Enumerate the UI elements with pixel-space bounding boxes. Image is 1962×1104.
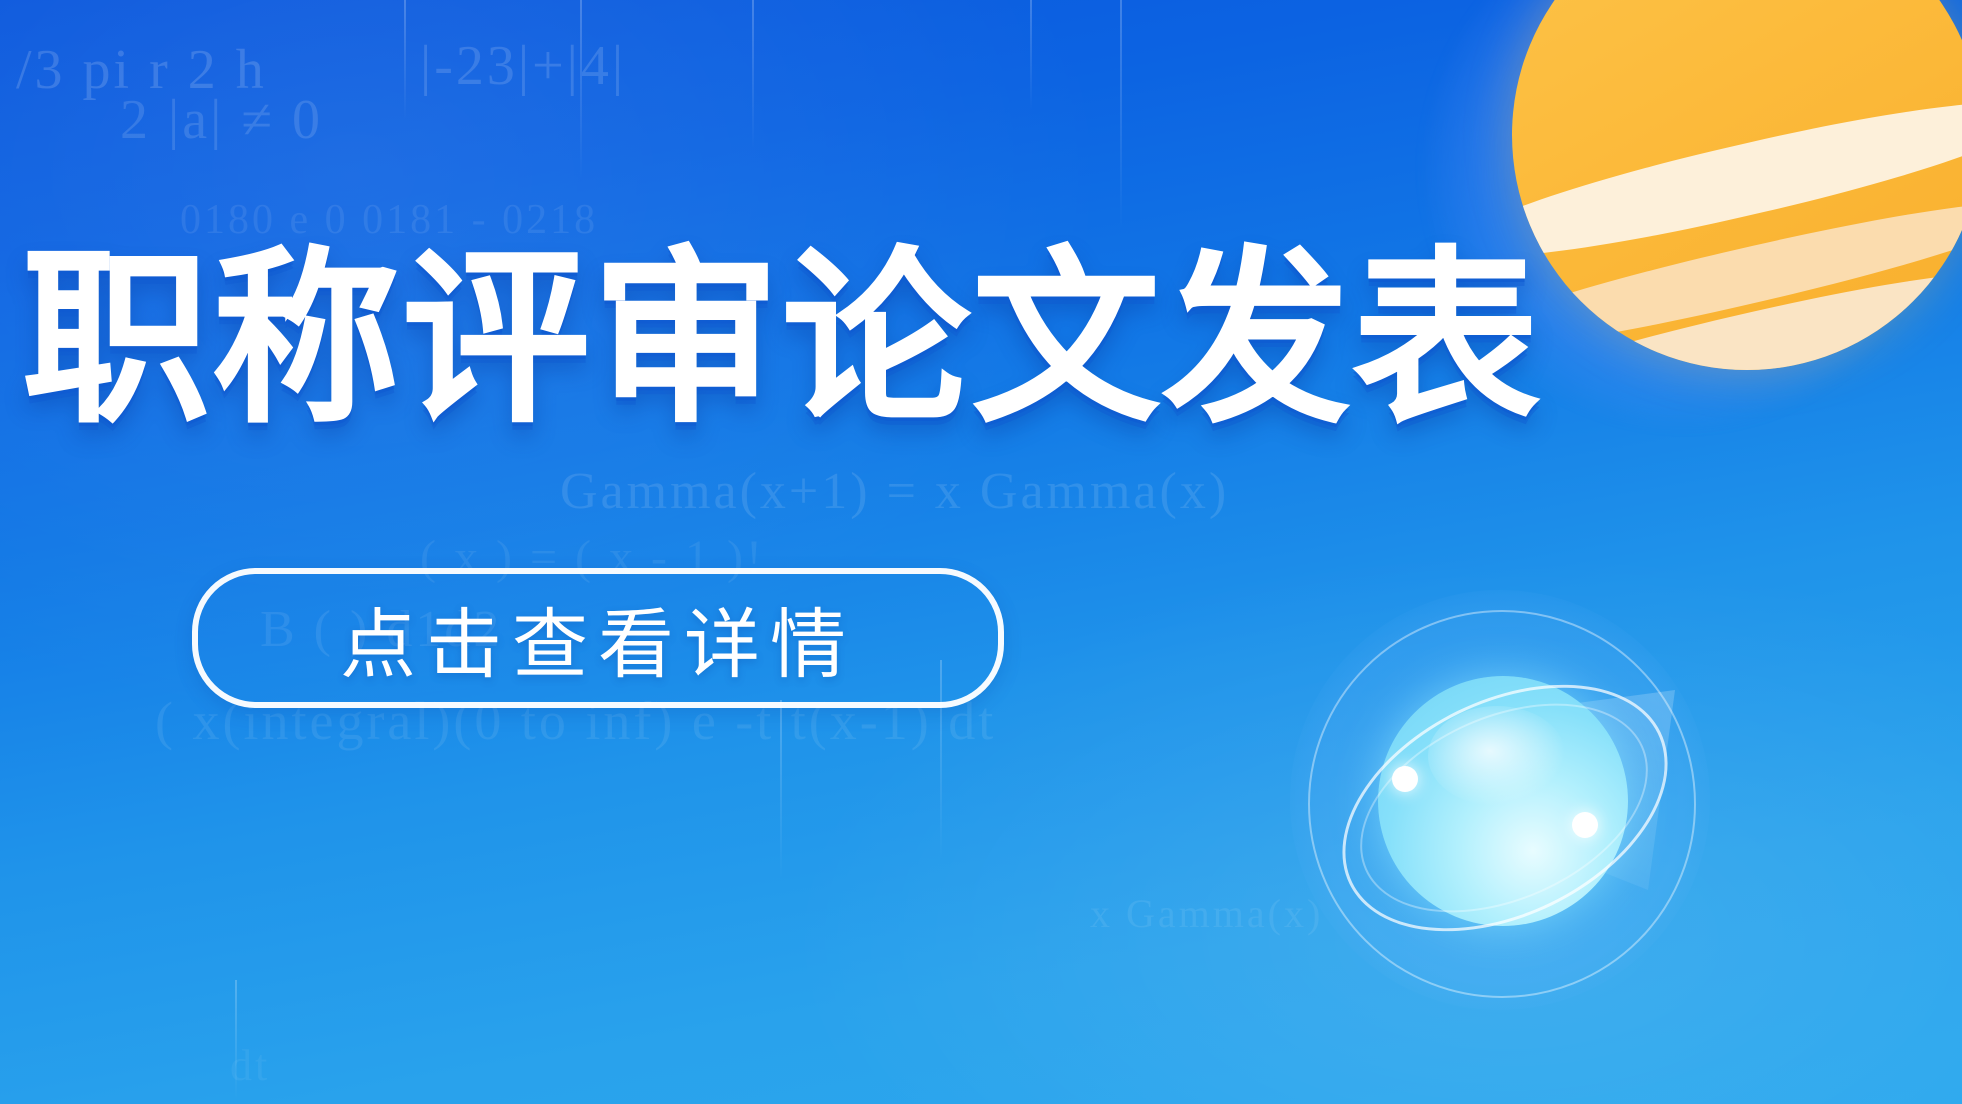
view-details-button[interactable]: 点击查看详情: [192, 568, 1004, 708]
atom-wedge-highlight: [1525, 690, 1675, 890]
atom-halo: [1290, 590, 1710, 1010]
atom-orbit-path-secondary: [1328, 662, 1681, 954]
hairline-decoration: [752, 0, 754, 150]
orange-planet-icon: [1472, 0, 1962, 450]
planet-band: [1512, 78, 1962, 282]
hairline-decoration: [235, 980, 237, 1100]
planet-band: [1512, 181, 1962, 370]
atom-orbit-path: [1302, 635, 1708, 981]
page-title: 职称评审论文发表: [22, 240, 1422, 439]
formula-watermark: Gamma(x+1) = x Gamma(x): [560, 462, 1229, 521]
formula-watermark: |-23|+|4|: [420, 34, 626, 98]
formula-watermark: 2 |a| ≠ 0: [120, 88, 323, 152]
atom-orbit-icon: [1290, 590, 1770, 1070]
hairline-decoration: [1120, 0, 1122, 230]
atom-core-shine: [1428, 706, 1566, 806]
atom-electron-dot: [1572, 812, 1598, 838]
view-details-button-label: 点击查看详情: [340, 583, 856, 693]
hairline-decoration: [580, 0, 582, 180]
planet-body: [1512, 0, 1962, 370]
atom-core-sphere: [1378, 676, 1628, 926]
hairline-decoration: [404, 0, 406, 120]
hairline-decoration: [1030, 0, 1032, 110]
formula-watermark: /3 pi r 2 h: [16, 38, 267, 102]
formula-watermark: x Gamma(x): [1090, 890, 1323, 937]
formula-watermark: dt: [230, 1040, 270, 1091]
planet-band: [1512, 247, 1962, 370]
atom-electron-dot: [1392, 766, 1418, 792]
hairline-decoration: [780, 700, 782, 880]
promo-banner: /3 pi r 2 h 2 |a| ≠ 0 |-23|+|4| 0180 e 0…: [0, 0, 1962, 1104]
atom-outer-ring: [1308, 610, 1696, 998]
